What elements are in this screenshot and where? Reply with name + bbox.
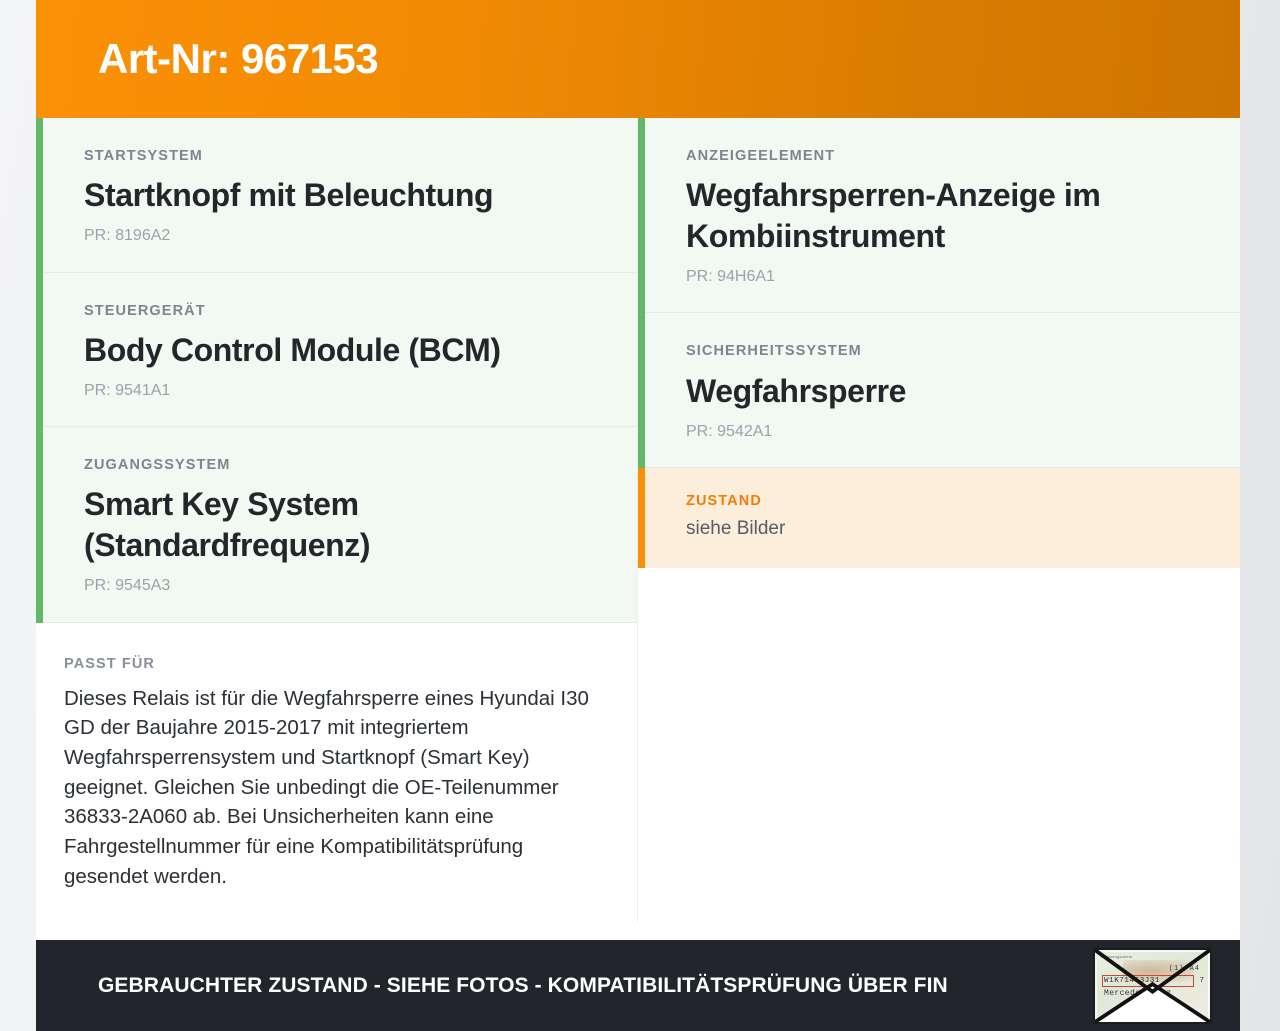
fits-for-description: Dieses Relais ist für die Wegfahrsperre … xyxy=(64,684,589,892)
product-spec-sheet: Art-Nr: 967153 STARTSYSTEM Startknopf mi… xyxy=(36,0,1240,1031)
spec-pr-code: PR: 8196A2 xyxy=(84,226,607,245)
spec-title: Smart Key System (Standardfrequenz) xyxy=(84,484,607,566)
spec-label: SICHERHEITSSYSTEM xyxy=(686,343,1210,360)
spec-title: Wegfahrsperren-Anzeige im Kombiinstrumen… xyxy=(686,175,1210,257)
fits-for-section: PASST FÜR Dieses Relais ist für die Wegf… xyxy=(36,623,637,922)
spec-pr-code: PR: 94H6A1 xyxy=(686,267,1210,286)
spec-columns: STARTSYSTEM Startknopf mit Beleuchtung P… xyxy=(36,118,1240,940)
spec-pr-code: PR: 9545A3 xyxy=(84,576,607,595)
spec-title: Body Control Module (BCM) xyxy=(84,330,607,371)
footer-notice: GEBRAUCHTER ZUSTAND - SIEHE FOTOS - KOMP… xyxy=(98,974,948,998)
spec-title: Wegfahrsperre xyxy=(686,371,1210,412)
envelope-vin-document-icon[interactable]: Fahrzeugschein (1) A4 W1K71463J31 7 Merc… xyxy=(1093,948,1212,1024)
envelope-flap-icon xyxy=(1095,950,1210,1022)
spec-pr-code: PR: 9541A1 xyxy=(84,381,607,400)
spec-card-zugangssystem[interactable]: ZUGANGSSYSTEM Smart Key System (Standard… xyxy=(36,427,637,622)
spec-label: ANZEIGEELEMENT xyxy=(686,148,1210,165)
spec-label: STEUERGERÄT xyxy=(84,303,607,320)
fits-for-label: PASST FÜR xyxy=(64,656,589,672)
spec-title: Startknopf mit Beleuchtung xyxy=(84,175,607,216)
condition-value: siehe Bilder xyxy=(686,517,1210,542)
left-column: STARTSYSTEM Startknopf mit Beleuchtung P… xyxy=(36,118,638,922)
spec-label: ZUGANGSSYSTEM xyxy=(84,457,607,474)
right-column: ANZEIGEELEMENT Wegfahrsperren-Anzeige im… xyxy=(638,118,1240,568)
spec-card-sicherheitssystem[interactable]: SICHERHEITSSYSTEM Wegfahrsperre PR: 9542… xyxy=(638,313,1240,468)
condition-label: ZUSTAND xyxy=(686,493,1210,510)
spec-label: STARTSYSTEM xyxy=(84,148,607,165)
page-title: Art-Nr: 967153 xyxy=(98,38,378,80)
spec-card-steuergeraet[interactable]: STEUERGERÄT Body Control Module (BCM) PR… xyxy=(36,273,637,428)
condition-card[interactable]: ZUSTAND siehe Bilder xyxy=(638,468,1240,568)
spec-card-anzeigeelement[interactable]: ANZEIGEELEMENT Wegfahrsperren-Anzeige im… xyxy=(638,118,1240,313)
spec-card-startsystem[interactable]: STARTSYSTEM Startknopf mit Beleuchtung P… xyxy=(36,118,637,273)
spec-pr-code: PR: 9542A1 xyxy=(686,422,1210,441)
footer-bar: GEBRAUCHTER ZUSTAND - SIEHE FOTOS - KOMP… xyxy=(36,940,1240,1031)
header-bar: Art-Nr: 967153 xyxy=(36,0,1240,118)
